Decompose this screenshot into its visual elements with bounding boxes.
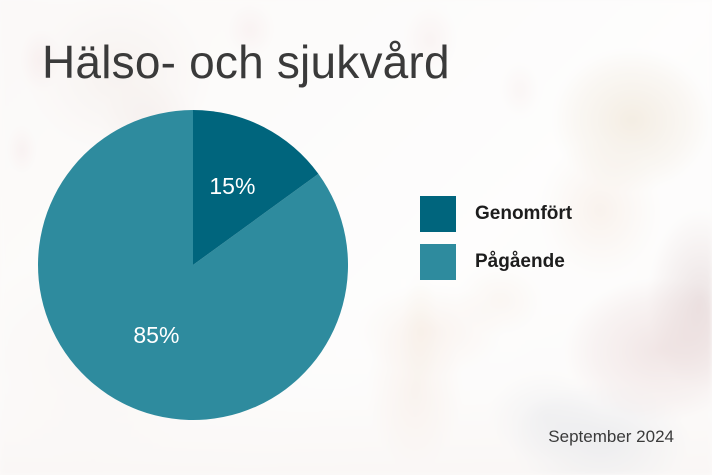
pie-chart: 15% 85% — [38, 110, 348, 420]
pie-slice-label-ongoing: 85% — [133, 322, 179, 348]
legend-item-genomfort[interactable]: Genomfört — [420, 190, 572, 238]
footer-date: September 2024 — [548, 427, 674, 447]
legend-item-pagaende[interactable]: Pågående — [420, 238, 572, 286]
legend-label-pagaende: Pågående — [475, 251, 565, 273]
legend-swatch-pagaende — [420, 244, 456, 280]
legend-swatch-genomfort — [420, 196, 456, 232]
legend: Genomfört Pågående — [420, 190, 572, 286]
pie-chart-svg: 15% 85% — [38, 110, 348, 420]
page-title: Hälso- och sjukvård — [42, 35, 450, 89]
legend-label-genomfort: Genomfört — [475, 203, 572, 225]
pie-slice-label-completed: 15% — [209, 173, 255, 199]
slide-canvas: Hälso- och sjukvård 15% 85% Genomfört På… — [0, 0, 712, 475]
